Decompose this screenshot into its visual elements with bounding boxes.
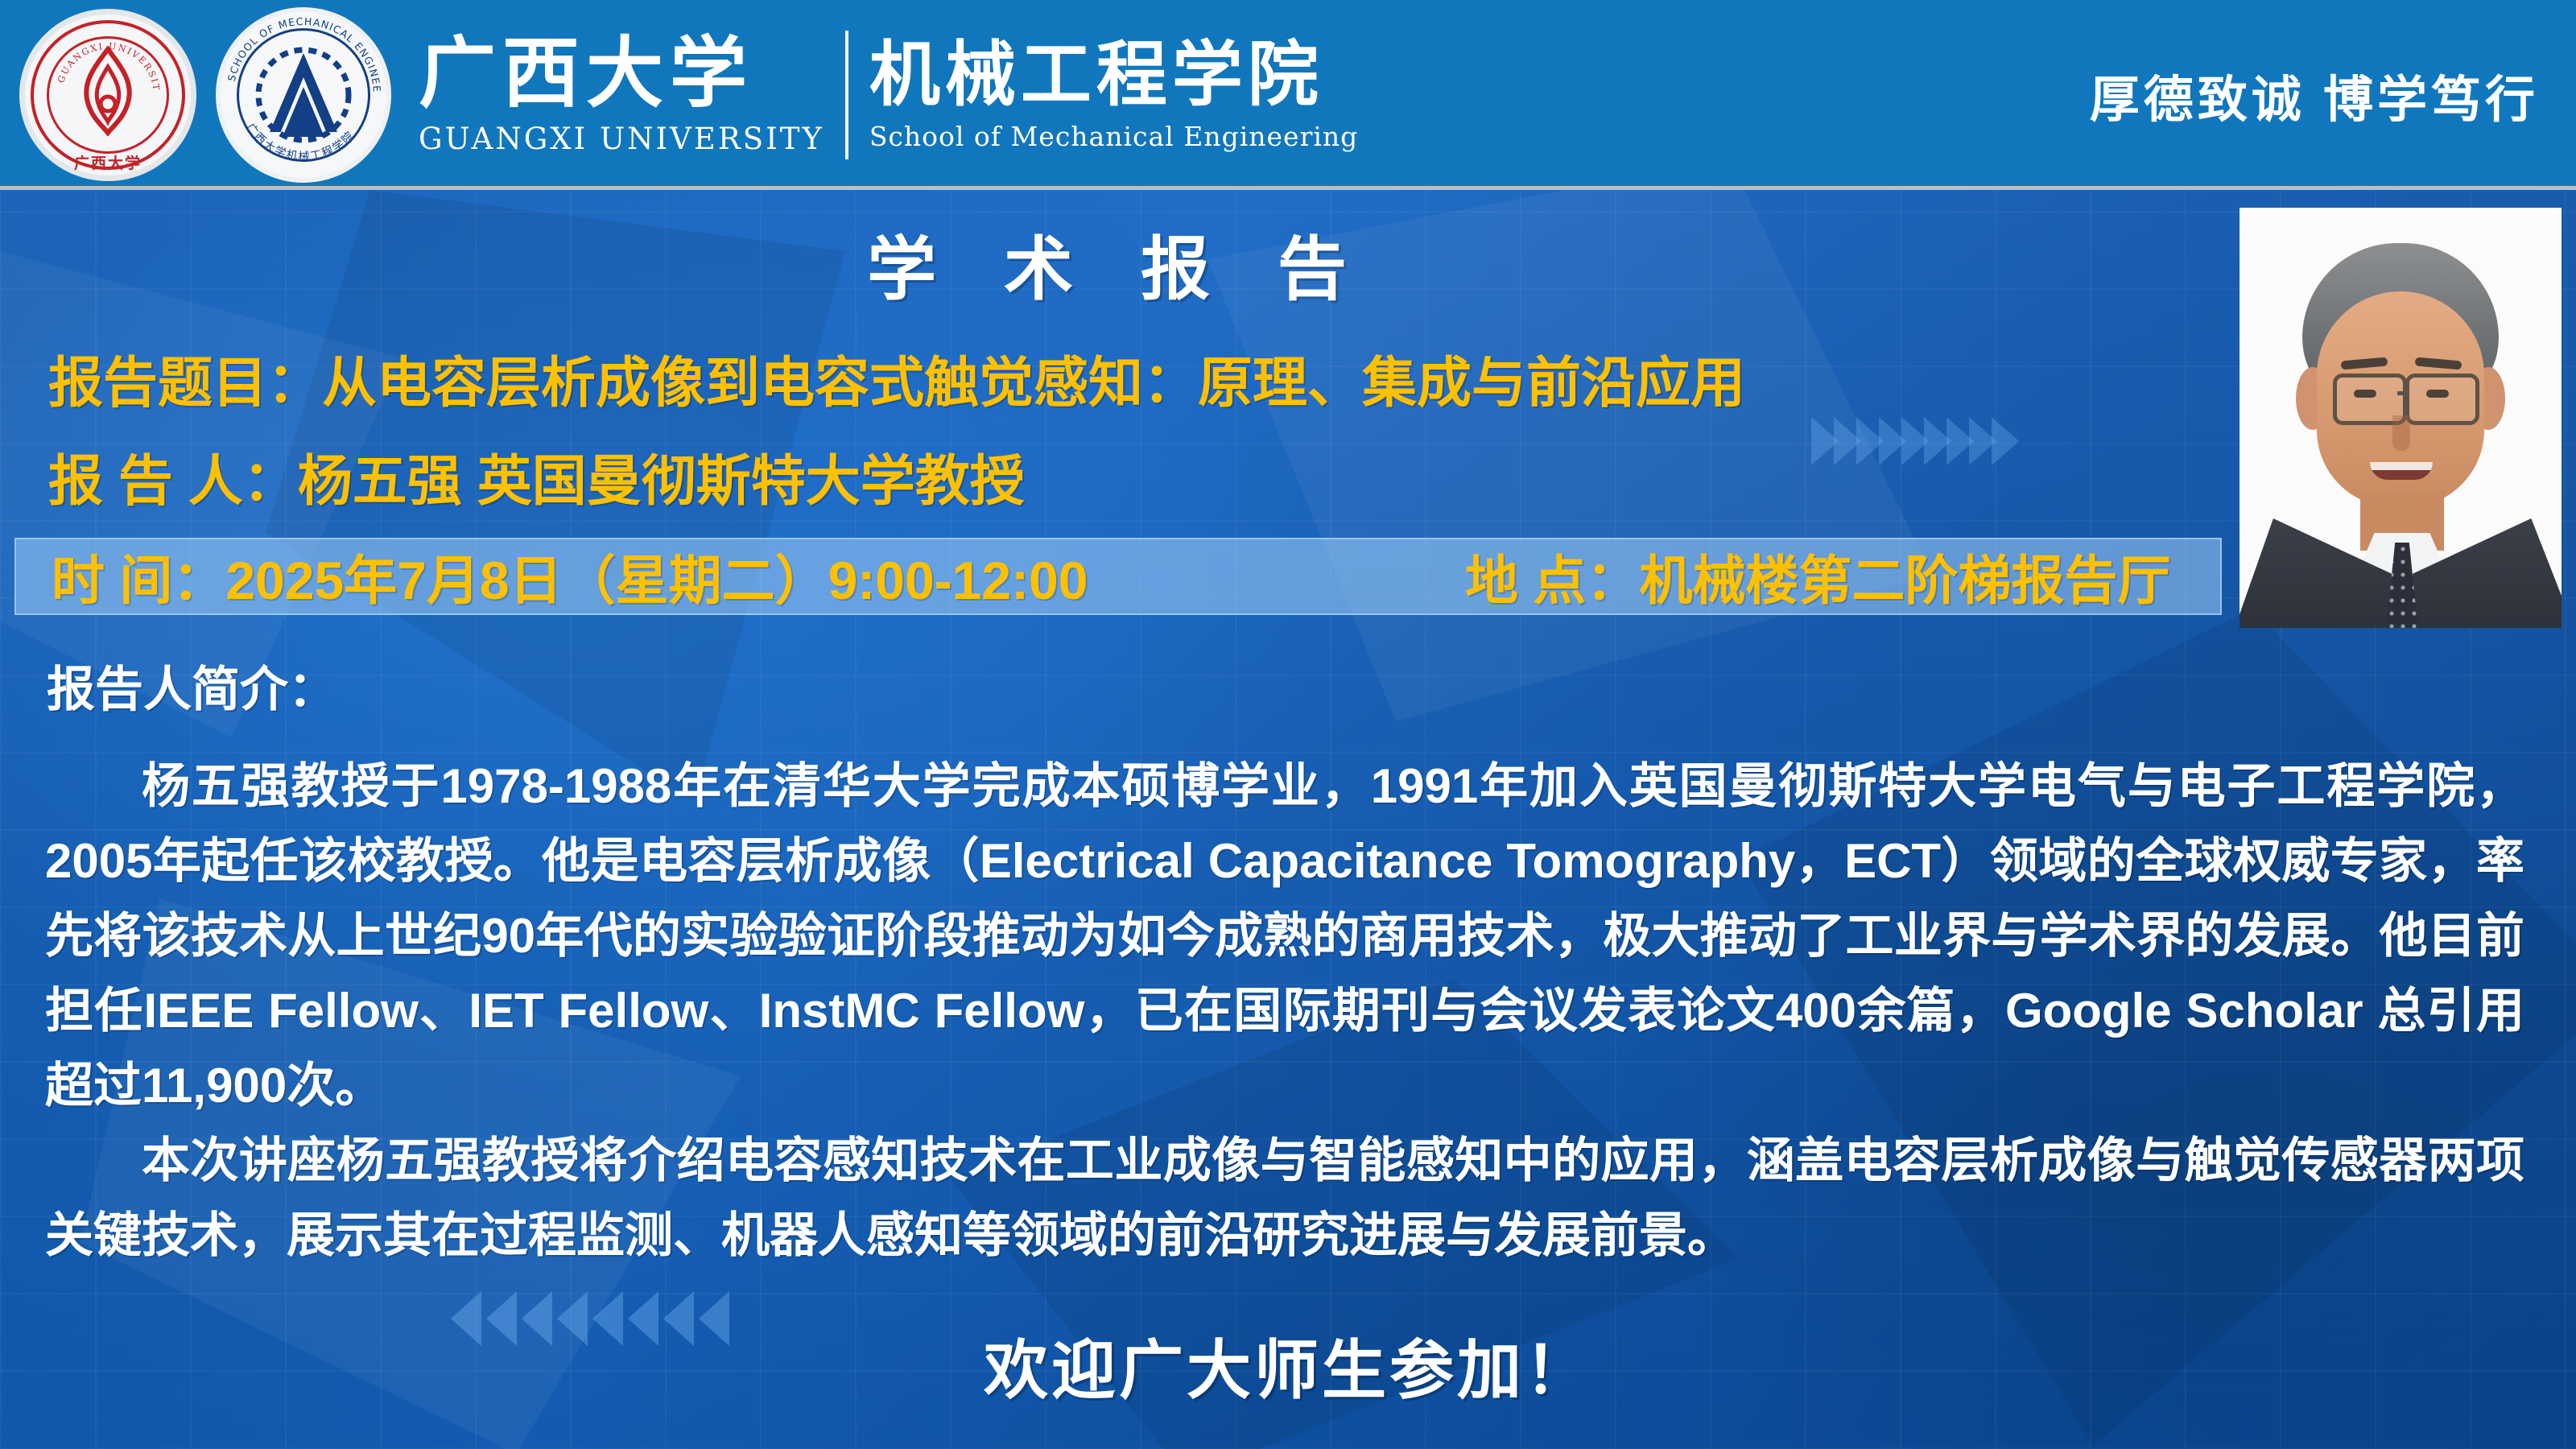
portrait-glasses-right bbox=[2405, 374, 2479, 425]
sme-gear-icon bbox=[254, 45, 353, 145]
header-motto: 厚德致诚 博学笃行 bbox=[2090, 59, 2539, 131]
time-label: 时 间： bbox=[52, 551, 225, 610]
poster-root: GUANGXI UNIVERSITY 1928 广西大学 bbox=[0, 0, 2576, 1449]
time-value: 2025年7月8日（星期二）9:00-12:00 bbox=[225, 551, 1088, 610]
portrait-nose bbox=[2392, 415, 2410, 451]
wordmark-university-cn: 广西大学 bbox=[419, 35, 824, 112]
wordmark-school-cn: 机械工程学院 bbox=[869, 39, 1358, 109]
gxu-seal-icon: GUANGXI UNIVERSITY 1928 广西大学 bbox=[14, 4, 201, 186]
seal-flame-icon bbox=[69, 46, 147, 136]
portrait-photo bbox=[2240, 208, 2562, 628]
gxu-seal-bottom-text: 广西大学 bbox=[74, 151, 142, 173]
place-label: 地 点： bbox=[1465, 551, 1639, 610]
chevron-right-decoration bbox=[1811, 417, 2014, 465]
topic-label: 报告题目： bbox=[48, 353, 322, 414]
bio-paragraph: 杨五强教授于1978-1988年在清华大学完成本硕博学业，1991年加入英国曼彻… bbox=[45, 749, 2524, 1123]
portrait-mouth bbox=[2370, 462, 2433, 480]
bio-heading: 报告人简介： bbox=[47, 650, 336, 720]
header-bar: GUANGXI UNIVERSITY 1928 广西大学 bbox=[0, 0, 2576, 190]
header-wordmark: 广西大学 GUANGXI UNIVERSITY 机械工程学院 School of… bbox=[419, 4, 1358, 186]
bio-paragraph: 本次讲座杨五强教授将介绍电容感知技术在工业成像与智能感知中的应用，涵盖电容层析成… bbox=[45, 1123, 2524, 1273]
speaker-line: 报 告 人：杨五强 英国曼彻斯特大学教授 bbox=[48, 436, 1025, 516]
time-place-band: 时 间：2025年7月8日（星期二）9:00-12:00 地 点：机械楼第二阶梯… bbox=[14, 538, 2222, 615]
header-logo-group: GUANGXI UNIVERSITY 1928 广西大学 bbox=[0, 0, 1358, 190]
wordmark-divider bbox=[845, 31, 848, 159]
welcome-line: 欢迎广大师生参加！ bbox=[0, 1319, 2576, 1412]
topic-line: 报告题目：从电容层析成像到电容式触觉感知：原理、集成与前沿应用 bbox=[48, 338, 1745, 418]
wordmark-university-en: GUANGXI UNIVERSITY bbox=[419, 122, 824, 156]
speaker-portrait bbox=[2240, 208, 2562, 628]
page-title: 学 术 报 告 bbox=[0, 213, 2238, 313]
topic-value: 从电容层析成像到电容式触觉感知：原理、集成与前沿应用 bbox=[322, 353, 1745, 414]
portrait-glasses-bridge bbox=[2397, 391, 2409, 395]
speaker-value: 杨五强 英国曼彻斯特大学教授 bbox=[298, 451, 1025, 512]
speaker-label: 报 告 人： bbox=[48, 451, 298, 512]
wordmark-school-en: School of Mechanical Engineering bbox=[869, 121, 1358, 152]
place-line: 地 点：机械楼第二阶梯报告厅 bbox=[1465, 538, 2170, 615]
place-value: 机械楼第二阶梯报告厅 bbox=[1639, 551, 2170, 610]
time-line: 时 间：2025年7月8日（星期二）9:00-12:00 bbox=[52, 538, 1088, 615]
bio-body: 杨五强教授于1978-1988年在清华大学完成本硕博学业，1991年加入英国曼彻… bbox=[45, 749, 2524, 1273]
sme-seal-icon: SCHOOL OF MECHANICAL ENGINEERING 广西大学机械工… bbox=[213, 4, 394, 186]
